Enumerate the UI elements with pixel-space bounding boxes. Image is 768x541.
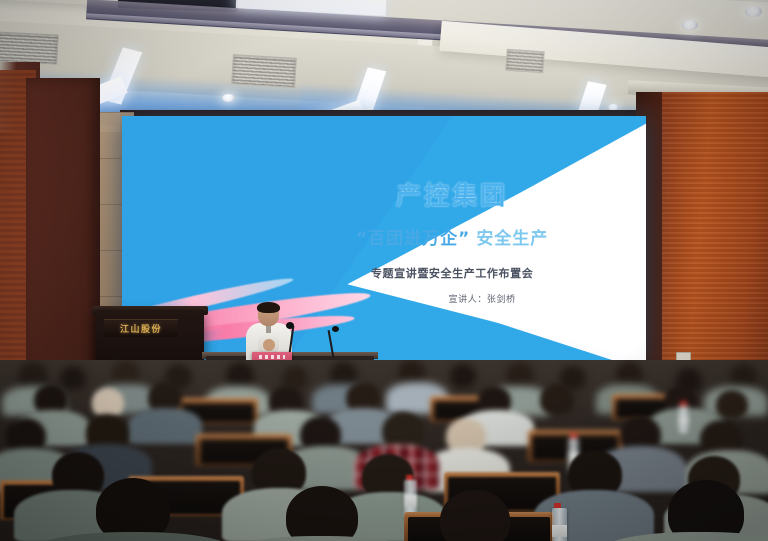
- slide-speaker-line: 宣讲人：张剑桥: [279, 292, 625, 305]
- air-conditioning-grille-icon: [231, 54, 297, 88]
- lectern-sign: 江山股份: [104, 319, 178, 337]
- presenter-hands: [263, 339, 275, 351]
- slide-subtitle: “百团进万企”安全生产: [279, 224, 625, 249]
- lectern-sign-text: 江山股份: [120, 322, 162, 335]
- slide-title: 产控集团: [279, 182, 625, 210]
- slide-subtitle-quoted: “百团进万企”: [356, 229, 470, 249]
- recessed-downlight-icon: [222, 94, 235, 102]
- slide-line-three: 专题宣讲暨安全生产工作布置会: [279, 265, 625, 281]
- slide-subtitle-rest: 安全生产: [476, 229, 548, 249]
- audience-area: [0, 360, 768, 541]
- slide-text-block: 产控集团 “百团进万企”安全生产 专题宣讲暨安全生产工作布置会 宣讲人：张剑桥: [279, 182, 625, 305]
- recessed-downlight-icon: [745, 6, 762, 17]
- conference-hall-photo: 产控集团 “百团进万企”安全生产 专题宣讲暨安全生产工作布置会 宣讲人：张剑桥 …: [0, 0, 768, 541]
- left-wall-panel: [26, 78, 100, 390]
- attendee-head: [440, 490, 510, 541]
- water-bottle: [552, 508, 567, 541]
- recessed-downlight-icon: [682, 20, 698, 30]
- microphone-head-icon: [332, 326, 339, 332]
- attendee-head: [286, 486, 358, 541]
- microphone-head-icon: [286, 322, 294, 329]
- presenter-hair: [257, 302, 280, 313]
- air-conditioning-grille-icon: [505, 49, 544, 74]
- air-conditioning-grille-icon: [0, 31, 59, 64]
